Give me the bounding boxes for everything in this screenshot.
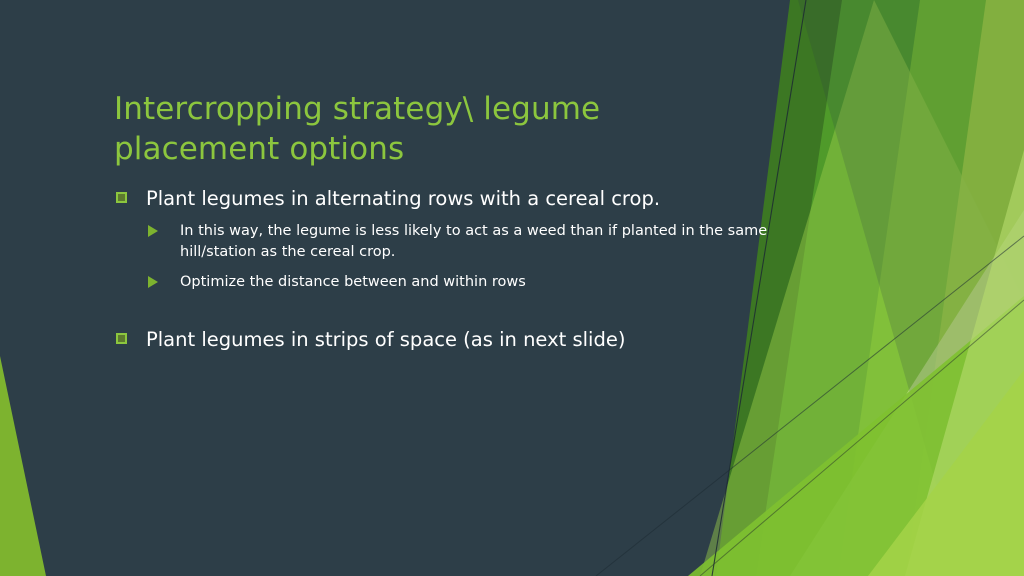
bullet-level2-text: Optimize the distance between and within… [180,274,526,290]
sub-bullet-group: In this way, the legume is less likely t… [112,221,812,293]
triangle-marker-icon [148,225,158,237]
bullet-level2: In this way, the legume is less likely t… [112,221,812,263]
hollow-square-marker-icon [116,333,127,344]
triangle-marker-icon [148,276,158,288]
bullet-level1-text: Plant legumes in strips of space (as in … [146,328,625,351]
bullet-level1: Plant legumes in strips of space (as in … [112,326,812,354]
slide-content: Intercropping strategy\ legume placement… [0,0,1024,576]
bullet-level2: Optimize the distance between and within… [112,272,812,293]
slide-body-list: Plant legumes in alternating rows with a… [112,185,812,358]
slide-title: Intercropping strategy\ legume placement… [114,89,714,169]
bullet-level2-text: In this way, the legume is less likely t… [180,223,767,260]
hollow-square-marker-icon [116,192,127,203]
bullet-level1: Plant legumes in alternating rows with a… [112,185,812,213]
bullet-spacer [112,302,812,326]
presentation-slide: Intercropping strategy\ legume placement… [0,0,1024,576]
bullet-level1-text: Plant legumes in alternating rows with a… [146,187,660,210]
